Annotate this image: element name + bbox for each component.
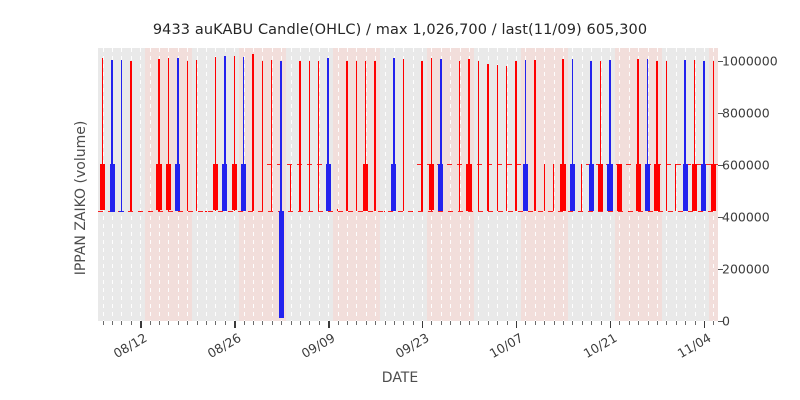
x-tick-mark-minor — [262, 321, 263, 325]
candle-wick — [271, 60, 272, 211]
y-axis-label: IPPAN ZAIKO (volume) — [73, 68, 89, 328]
x-tick-mark-minor — [591, 321, 592, 325]
candle-wick — [196, 60, 197, 211]
candle-body — [222, 164, 227, 211]
x-tick-mark-minor — [478, 321, 479, 325]
x-tick-mark-minor — [666, 321, 667, 325]
x-tick-mark-major — [234, 321, 235, 328]
candle-body — [636, 164, 641, 211]
x-tick-mark-minor — [385, 321, 386, 325]
candle-body — [119, 211, 124, 212]
x-tick-mark-major — [516, 321, 517, 328]
x-tick-label: 10/07 — [483, 330, 525, 363]
x-tick-mark-minor — [356, 321, 357, 325]
candle-body — [683, 164, 688, 211]
candle-body — [617, 164, 622, 211]
candle-wick — [374, 61, 375, 211]
x-tick-mark-minor — [121, 321, 122, 325]
grid-line — [150, 48, 151, 321]
x-tick-mark-minor — [460, 321, 461, 325]
candle-body — [589, 164, 594, 211]
x-tick-mark-minor — [497, 321, 498, 325]
x-tick-mark-minor — [394, 321, 395, 325]
candle-wick — [515, 61, 516, 211]
x-tick-mark-minor — [103, 321, 104, 325]
x-tick-mark-minor — [554, 321, 555, 325]
x-tick-mark-minor — [159, 321, 160, 325]
x-tick-mark-minor — [488, 321, 489, 325]
x-tick-mark-minor — [685, 321, 686, 325]
x-tick-mark-major — [328, 321, 329, 328]
x-tick-mark-minor — [375, 321, 376, 325]
x-tick-mark-minor — [413, 321, 414, 325]
candle-wick — [356, 61, 357, 211]
candle-wick — [506, 66, 507, 211]
candle-body — [326, 164, 331, 211]
x-tick-mark-minor — [244, 321, 245, 325]
candle-wick — [675, 164, 676, 211]
x-tick-mark-minor — [619, 321, 620, 325]
x-tick-mark-minor — [657, 321, 658, 325]
plot-area — [98, 48, 718, 321]
candle-body — [175, 164, 180, 211]
reference-line — [267, 164, 323, 165]
grid-line — [140, 48, 141, 321]
candle-wick — [544, 164, 545, 211]
x-tick-mark-minor — [582, 321, 583, 325]
y-tick-label: 800000 — [722, 106, 770, 121]
x-tick-label: 10/21 — [577, 330, 619, 363]
x-tick-mark-minor — [347, 321, 348, 325]
x-tick-mark-minor — [338, 321, 339, 325]
x-tick-mark-minor — [629, 321, 630, 325]
y-tick-label: 600000 — [722, 158, 770, 173]
y-tick-label: 400000 — [722, 210, 770, 225]
candle-wick — [309, 61, 310, 211]
candle-wick — [497, 65, 498, 211]
x-tick-mark-minor — [695, 321, 696, 325]
reference-line — [98, 211, 718, 212]
x-tick-mark-minor — [112, 321, 113, 325]
candle-wick — [450, 211, 451, 212]
candle-wick — [384, 211, 385, 212]
candle-wick — [346, 61, 347, 211]
candle-wick — [187, 61, 188, 211]
x-tick-mark-minor — [403, 321, 404, 325]
candle-wick — [534, 60, 535, 210]
x-tick-mark-minor — [535, 321, 536, 325]
candle-body — [213, 164, 218, 211]
chart-title: 9433 auKABU Candle(OHLC) / max 1,026,700… — [0, 22, 800, 38]
x-tick-mark-minor — [206, 321, 207, 325]
x-tick-mark-minor — [450, 321, 451, 325]
x-tick-mark-minor — [525, 321, 526, 325]
candle-wick — [140, 211, 141, 212]
candle-body — [711, 164, 716, 211]
x-tick-mark-minor — [431, 321, 432, 325]
candle-body — [241, 164, 246, 211]
candle-body — [279, 211, 284, 319]
candle-wick — [412, 211, 413, 212]
candle-body — [232, 164, 237, 211]
grid-line — [450, 48, 451, 321]
candle-body — [100, 164, 105, 211]
grid-line — [629, 48, 630, 321]
x-tick-mark-minor — [319, 321, 320, 325]
x-tick-mark-minor — [601, 321, 602, 325]
candle-wick — [290, 165, 291, 211]
candle-wick — [262, 61, 263, 211]
grid-line — [385, 48, 386, 321]
x-tick-mark-minor — [713, 321, 714, 325]
candle-body — [523, 164, 528, 211]
candle-wick — [130, 61, 131, 211]
candle-wick — [478, 61, 479, 211]
candle-body — [156, 164, 161, 211]
x-tick-mark-minor — [168, 321, 169, 325]
candle-body — [438, 164, 443, 211]
x-tick-label: 11/04 — [671, 330, 713, 363]
candle-wick — [337, 209, 338, 211]
candle-wick — [121, 60, 122, 211]
x-tick-mark-minor — [131, 321, 132, 325]
x-tick-mark-minor — [366, 321, 367, 325]
x-tick-mark-minor — [507, 321, 508, 325]
y-tick-label: 0 — [722, 314, 730, 329]
chart-root: 9433 auKABU Candle(OHLC) / max 1,026,700… — [0, 0, 800, 400]
candle-body — [701, 164, 706, 211]
x-tick-mark-minor — [178, 321, 179, 325]
x-tick-mark-major — [422, 321, 423, 328]
y-tick-label: 200000 — [722, 262, 770, 277]
candle-body — [654, 164, 659, 211]
candle-body — [391, 164, 396, 211]
candle-body — [607, 164, 612, 211]
candle-body — [166, 164, 171, 211]
grid-line — [338, 48, 339, 321]
candle-wick — [403, 59, 404, 210]
candle-body — [692, 164, 697, 211]
x-tick-mark-minor — [648, 321, 649, 325]
x-tick-mark-minor — [291, 321, 292, 325]
x-tick-mark-minor — [253, 321, 254, 325]
x-axis-label: DATE — [0, 370, 800, 386]
x-tick-label: 09/23 — [389, 330, 431, 363]
candle-wick — [318, 61, 319, 211]
candle-body — [363, 164, 368, 211]
candle-body — [598, 164, 603, 211]
candle-body — [110, 164, 115, 212]
x-tick-mark-minor — [281, 321, 282, 325]
candle-wick — [299, 61, 300, 211]
candle-wick — [581, 164, 582, 211]
x-tick-mark-minor — [272, 321, 273, 325]
x-tick-mark-minor — [215, 321, 216, 325]
candle-body — [429, 164, 434, 211]
candle-wick — [205, 211, 206, 212]
x-tick-label: 08/26 — [202, 330, 244, 363]
candle-wick — [149, 211, 150, 212]
x-tick-label: 09/09 — [295, 330, 337, 363]
y-tick-label: 1000000 — [722, 54, 778, 69]
x-tick-mark-minor — [225, 321, 226, 325]
candle-body — [645, 164, 650, 211]
x-tick-mark-minor — [676, 321, 677, 325]
candle-wick — [666, 61, 667, 211]
reference-line — [586, 164, 718, 165]
x-tick-mark-minor — [300, 321, 301, 325]
x-tick-mark-minor — [544, 321, 545, 325]
candle-wick — [487, 64, 488, 211]
x-tick-mark-minor — [563, 321, 564, 325]
candle-wick — [252, 54, 253, 211]
x-tick-mark-minor — [187, 321, 188, 325]
grid-line — [413, 48, 414, 321]
x-tick-mark-minor — [309, 321, 310, 325]
x-tick-mark-minor — [197, 321, 198, 325]
x-tick-mark-minor — [572, 321, 573, 325]
candle-body — [570, 164, 575, 211]
x-tick-mark-major — [610, 321, 611, 328]
candle-wick — [421, 61, 422, 211]
x-tick-mark-major — [704, 321, 705, 328]
x-tick-mark-minor — [469, 321, 470, 325]
x-tick-mark-minor — [441, 321, 442, 325]
candle-wick — [459, 61, 460, 211]
candle-body — [560, 164, 565, 211]
x-tick-mark-minor — [150, 321, 151, 325]
candle-wick — [553, 164, 554, 211]
candle-wick — [628, 211, 629, 212]
x-tick-label: 08/12 — [108, 330, 150, 363]
x-tick-mark-major — [140, 321, 141, 328]
x-tick-mark-minor — [638, 321, 639, 325]
candle-body — [466, 164, 471, 211]
grid-line — [206, 48, 207, 321]
